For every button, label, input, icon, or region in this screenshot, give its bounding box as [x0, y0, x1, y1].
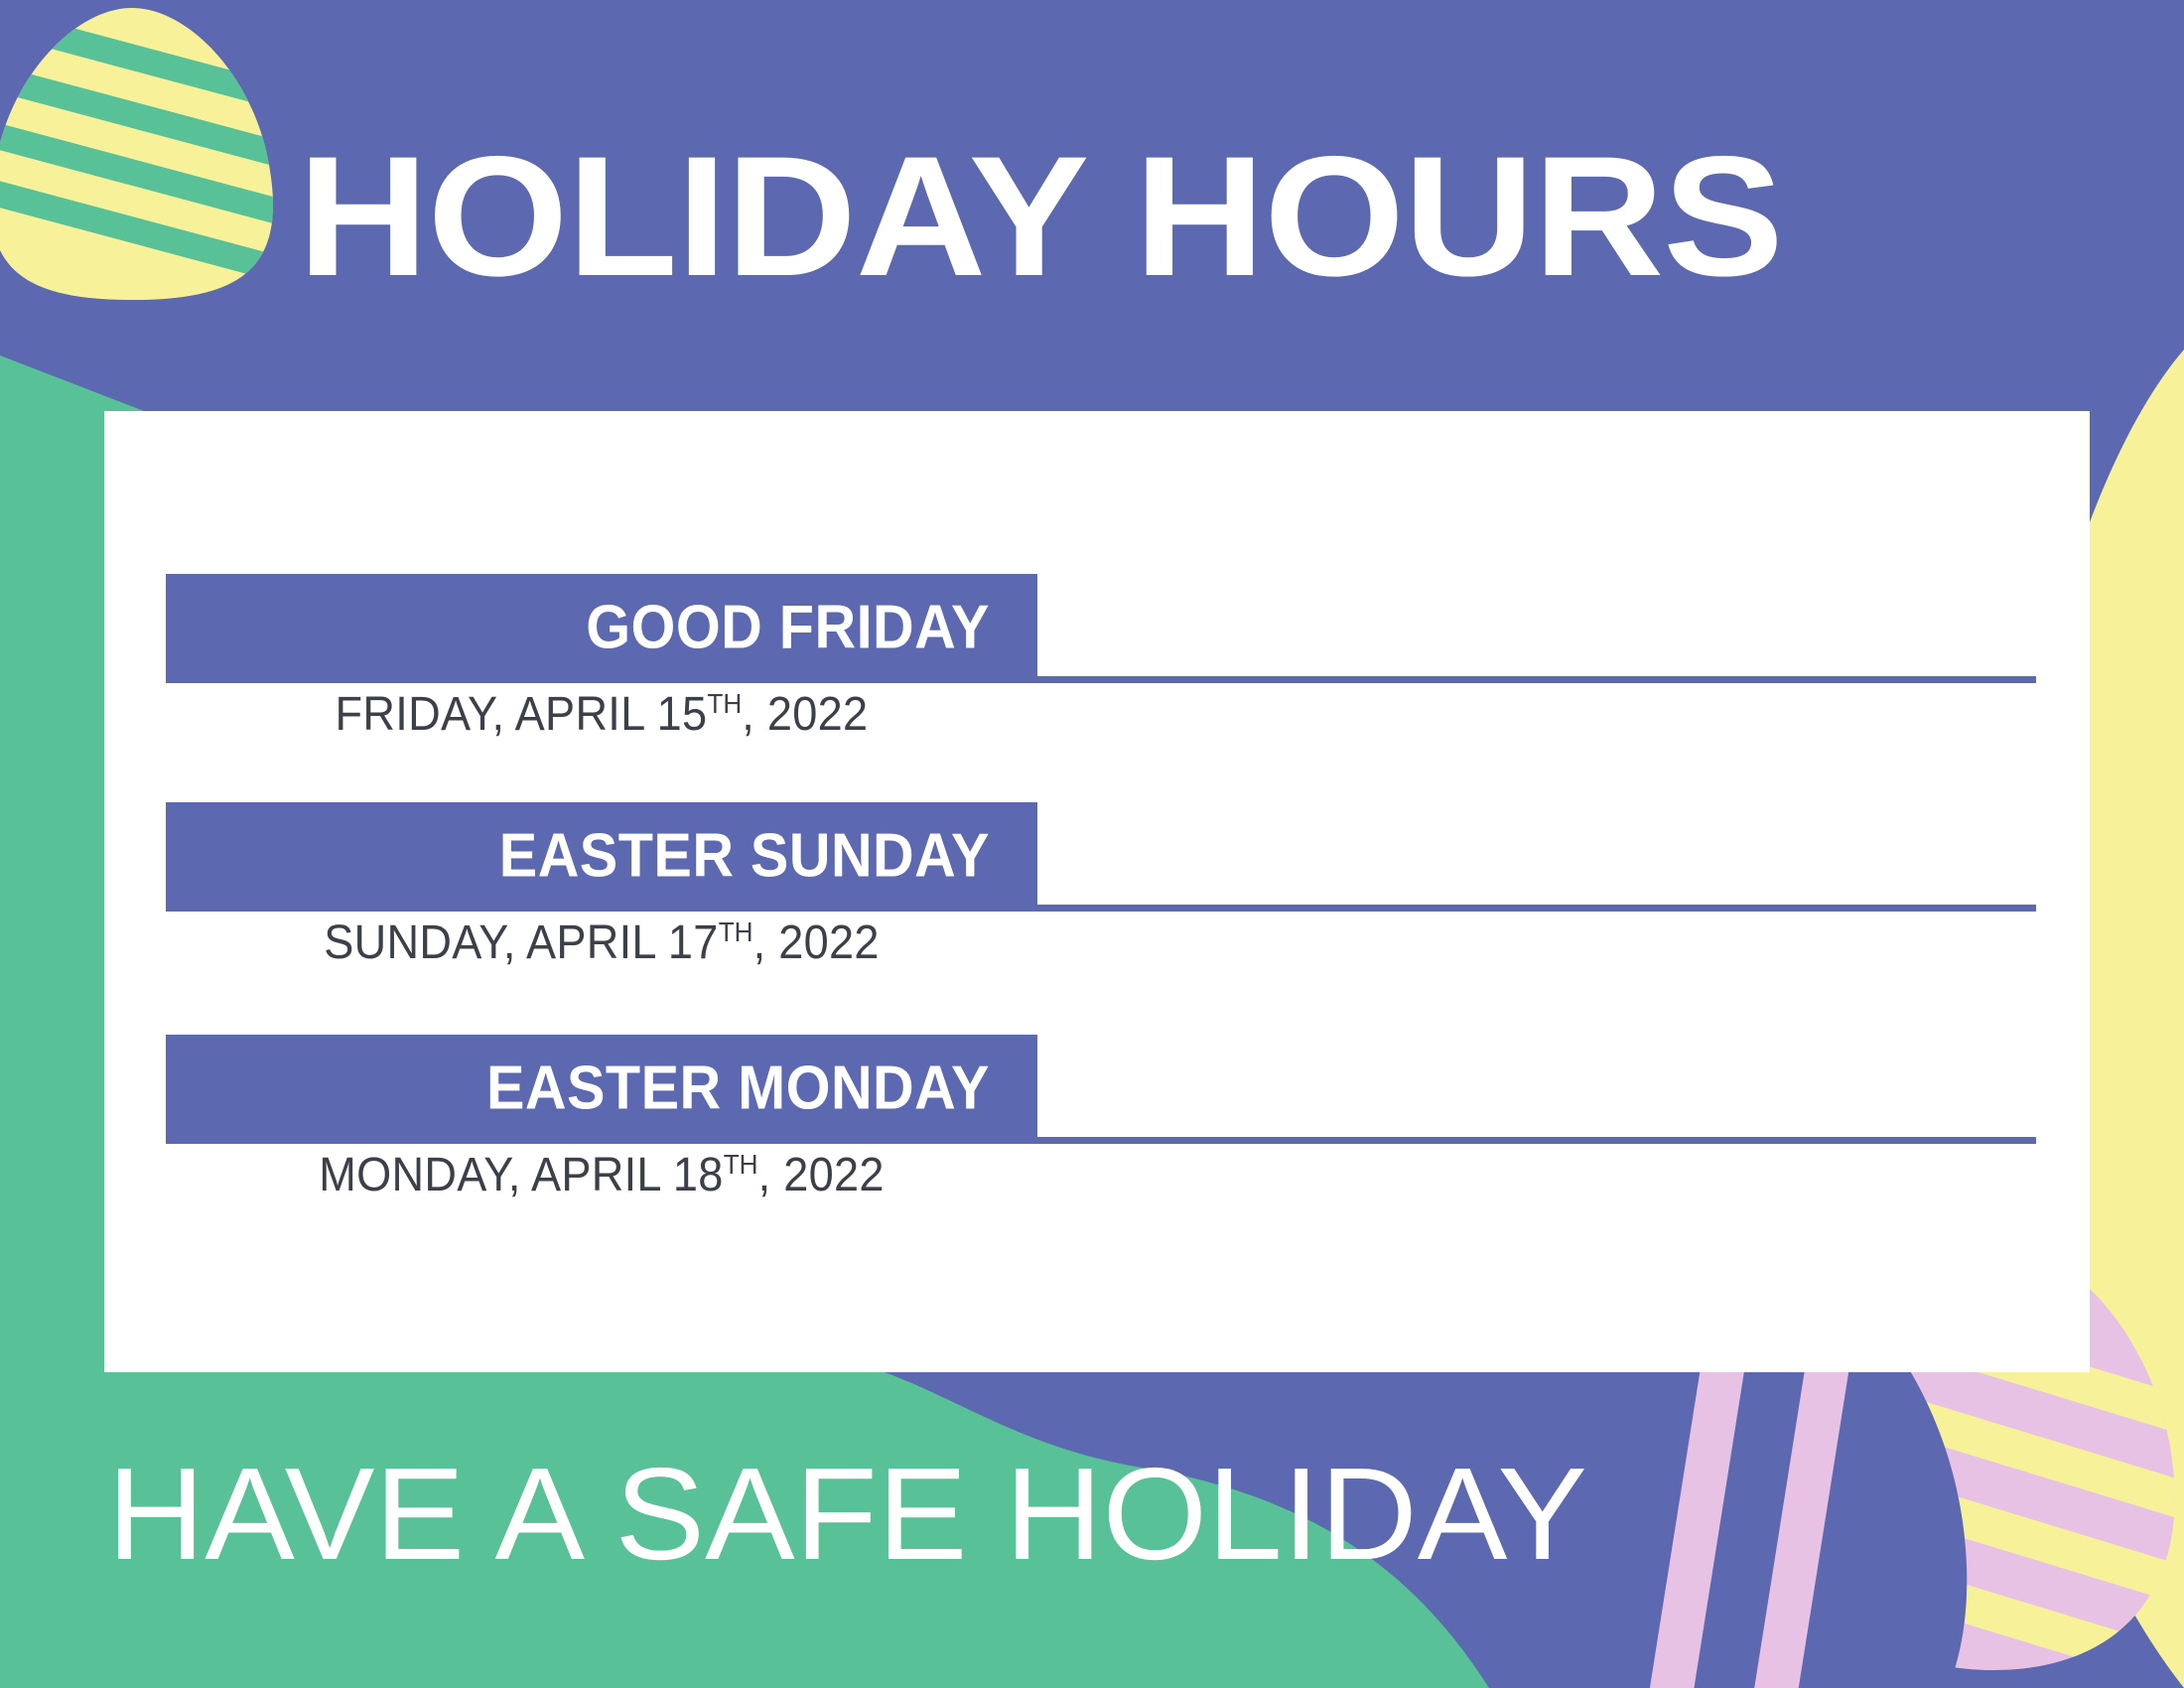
footer-message: HAVE A SAFE HOLIDAY [107, 1445, 1641, 1584]
holiday-name-bar: EASTER SUNDAY [166, 802, 1037, 910]
holiday-name-bar: GOOD FRIDAY [166, 574, 1037, 681]
holiday-date-year: , 2022 [753, 916, 880, 969]
holiday-date-ordinal: TH [719, 916, 753, 947]
holiday-date: SUNDAY, APRIL 17TH, 2022 [192, 915, 1011, 970]
holiday-name: GOOD FRIDAY [196, 593, 990, 663]
holiday-name: EASTER MONDAY [196, 1054, 990, 1124]
holiday-date: MONDAY, APRIL 18TH, 2022 [192, 1148, 1011, 1202]
holiday-date-ordinal: TH [724, 1149, 758, 1180]
holiday-date: FRIDAY, APRIL 15TH, 2022 [192, 687, 1011, 742]
holiday-hours-poster: HOLIDAY HOURS GOOD FRIDAY FRIDAY, APRIL … [0, 0, 2184, 1688]
holiday-date-day: MONDAY, APRIL 18 [319, 1149, 723, 1201]
holiday-name-bar: EASTER MONDAY [166, 1035, 1037, 1142]
holiday-date-day: FRIDAY, APRIL 15 [336, 688, 708, 741]
holiday-date-year: , 2022 [742, 688, 868, 741]
holiday-date-ordinal: TH [707, 688, 742, 719]
holiday-date-year: , 2022 [758, 1149, 885, 1201]
hours-card: GOOD FRIDAY FRIDAY, APRIL 15TH, 2022 EAS… [104, 411, 2090, 1372]
page-title: HOLIDAY HOURS [298, 127, 2023, 316]
holiday-name: EASTER SUNDAY [196, 821, 990, 892]
egg-body [0, 8, 273, 300]
holiday-date-day: SUNDAY, APRIL 17 [324, 916, 718, 969]
